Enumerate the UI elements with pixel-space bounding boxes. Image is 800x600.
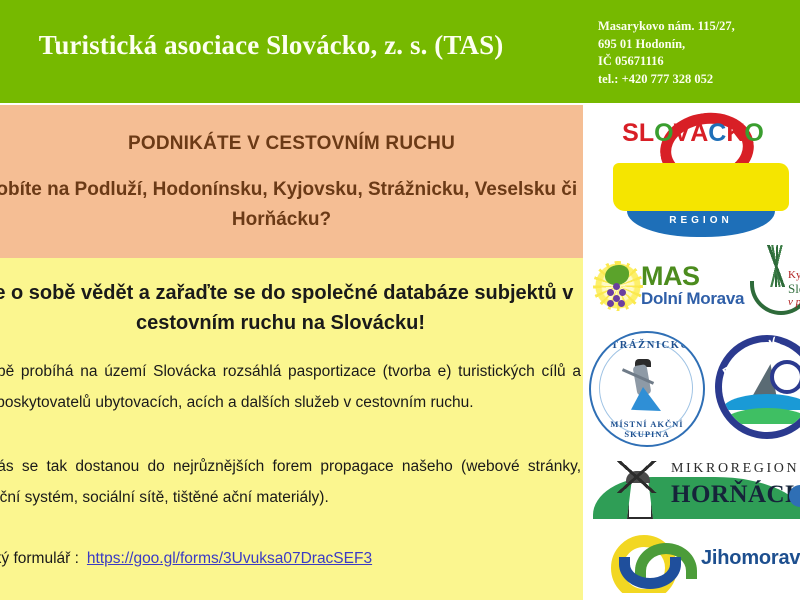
- ship-wheel-icon: [770, 360, 800, 394]
- logo-kyjovske-line3: v pohybu: [788, 296, 800, 308]
- header-band: Turistická asociace Slovácko, z. s. (TAS…: [0, 0, 800, 103]
- blue-arc-shape: REGION: [627, 211, 775, 237]
- address-line-ico: IČ 05671116: [598, 53, 798, 71]
- logo-straznicko-subtitle: MÍSTNÍ AKČNÍ SKUPINA: [591, 419, 703, 439]
- logo-kyjovske-line2: Slovácko: [788, 281, 800, 297]
- logo-hornacko-line1: MIKROREGION: [671, 461, 799, 477]
- logo-jihomoravsky-kraj: Jihomoravský: [605, 531, 800, 593]
- logo-jihomoravsky-wordmark: Jihomoravský: [701, 547, 800, 570]
- logo-mas-acronym: MAS: [641, 261, 700, 292]
- body-paragraph-1: sné době probíhá na území Slovácka rozsá…: [0, 356, 583, 418]
- windmill-blades-shape: [609, 461, 665, 493]
- body-block: te o sobě vědět a zařaďte se do společné…: [0, 258, 583, 600]
- address-line-street: Masarykovo nám. 115/27,: [598, 18, 798, 36]
- callout-subheadline: sobíte na Podluží, Hodonínsku, Kyjovsku,…: [0, 175, 583, 235]
- logo-slovacko-region: SLOVÁCKO REGION: [605, 111, 795, 243]
- logo-mas-dolni-morava: MAS Dolní Morava: [585, 251, 745, 329]
- yellow-banner-shape: [613, 163, 789, 211]
- address-line-phone: tel.: +420 777 328 052: [598, 71, 798, 89]
- page-title: Turistická asociace Slovácko, z. s. (TAS…: [0, 30, 556, 61]
- green-bank-shape: [722, 408, 800, 424]
- logo-slovacko-subtitle: REGION: [627, 215, 775, 226]
- body-paragraph-2: ce o vás se tak dostanou do nejrůznějšíc…: [0, 451, 583, 513]
- grapes-icon: [607, 283, 627, 307]
- logo-straznicko-title: STRÁŽNICKO: [591, 340, 703, 351]
- callout-block: PODNIKÁTE V CESTOVNÍM RUCHU sobíte na Po…: [0, 105, 583, 258]
- logo-slovacko-wordmark: SLOVÁCKO: [605, 119, 781, 148]
- form-link-label: ktronický formulář :: [0, 550, 79, 567]
- form-link-row: ktronický formulář :https://goo.gl/forms…: [0, 546, 583, 572]
- promotional-slide: Turistická asociace Slovácko, z. s. (TAS…: [0, 0, 800, 600]
- logo-mas-name: Dolní Morava: [641, 289, 744, 309]
- callout-headline: PODNIKÁTE V CESTOVNÍM RUCHU: [0, 133, 583, 155]
- logo-kyjovske-slovacko: Kyjovské Slovácko v pohybu: [748, 245, 800, 331]
- logo-mikroregion-hornacko: MIKROREGION HORŇÁCK: [593, 449, 800, 523]
- logo-batuv-kanal: BAŤŮV K: [715, 331, 800, 441]
- form-link[interactable]: https://goo.gl/forms/3Uvuksa07DracSEF3: [87, 550, 372, 567]
- blue-circle-shape: BAŤŮV K: [715, 335, 800, 439]
- organization-address: Masarykovo nám. 115/27, 695 01 Hodonín, …: [598, 18, 798, 88]
- logo-straznicko-mas: STRÁŽNICKO MÍSTNÍ AKČNÍ SKUPINA: [589, 331, 705, 447]
- logo-kyjovske-line1: Kyjovské: [788, 269, 800, 281]
- logo-hornacko-line2: HORŇÁCK: [671, 481, 800, 509]
- partner-logo-column: SLOVÁCKO REGION MAS Dolní Morava Kyjovsk…: [583, 103, 800, 600]
- windmill-icon: [609, 461, 665, 519]
- body-heading: te o sobě vědět a zařaďte se do společné…: [0, 278, 583, 338]
- address-line-city: 695 01 Hodonín,: [598, 36, 798, 54]
- folk-dancer-icon: [619, 359, 675, 417]
